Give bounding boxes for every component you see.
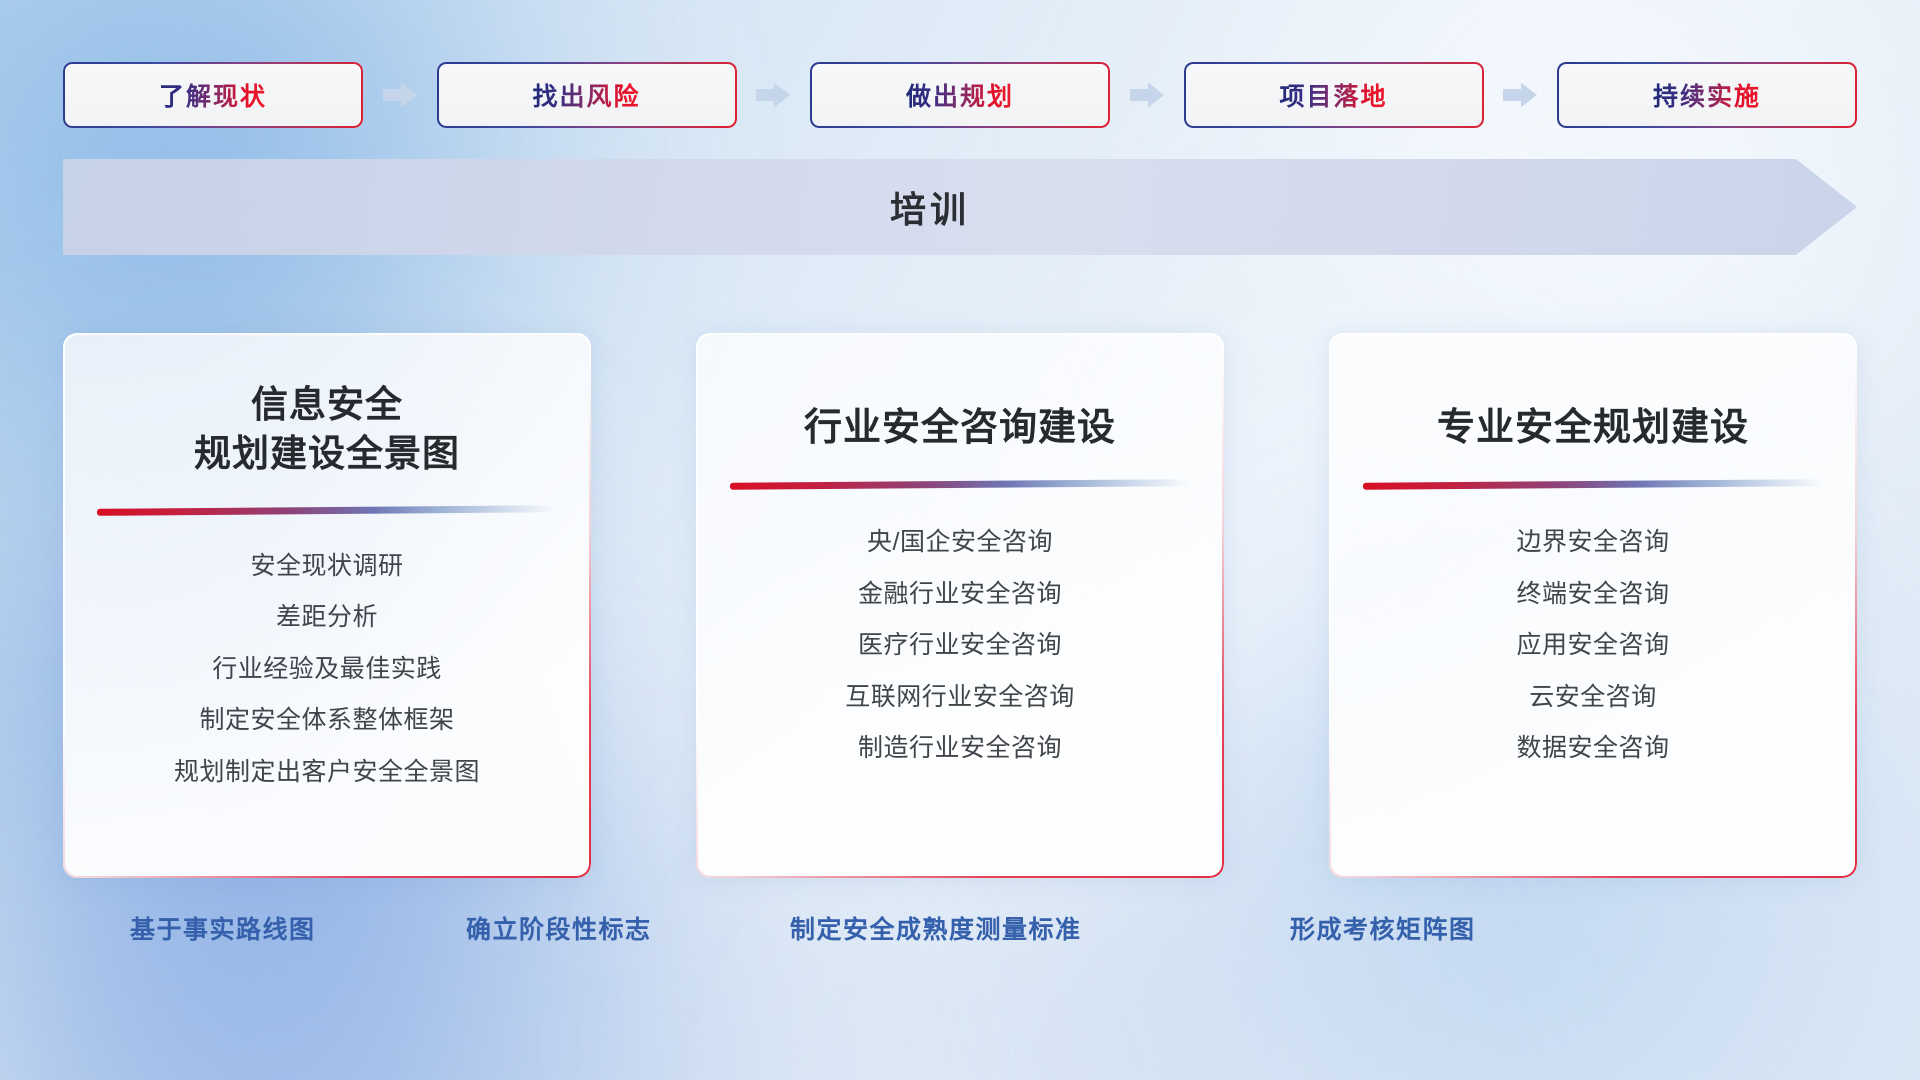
card-title-line: 行业安全咨询建设 bbox=[730, 403, 1190, 453]
card-title: 信息安全 规划建设全景图 bbox=[63, 333, 591, 479]
caption-roadmap: 基于事实路线图 bbox=[130, 910, 316, 946]
caption-matrix: 形成考核矩阵图 bbox=[1290, 910, 1476, 946]
step-box-5[interactable]: 持续实施 bbox=[1557, 62, 1857, 128]
step-box-2[interactable]: 找出风险 bbox=[437, 62, 737, 128]
list-item: 差距分析 bbox=[276, 599, 378, 637]
step-label: 持续实施 bbox=[1653, 77, 1761, 113]
arrow-right-block-icon bbox=[383, 81, 417, 109]
card-information-security-panorama[interactable]: 信息安全 规划建设全景图 安全现状调研 差距分析 行业经验及最佳实践 制定安全体… bbox=[63, 333, 591, 878]
cards-row: 信息安全 规划建设全景图 安全现状调研 差距分析 行业经验及最佳实践 制定安全体… bbox=[63, 333, 1857, 878]
caption-maturity: 制定安全成熟度测量标准 bbox=[790, 910, 1082, 946]
card-title-line: 规划建设全景图 bbox=[97, 430, 557, 479]
step-label: 了解现状 bbox=[159, 77, 267, 113]
list-item: 安全现状调研 bbox=[250, 548, 403, 586]
bottom-captions: 基于事实路线图 确立阶段性标志 制定安全成熟度测量标准 形成考核矩阵图 bbox=[0, 910, 1920, 960]
list-item: 制定安全体系整体框架 bbox=[199, 702, 454, 740]
card-title-line: 信息安全 bbox=[97, 381, 557, 430]
step-box-4[interactable]: 项目落地 bbox=[1184, 62, 1484, 128]
card-professional-security-planning[interactable]: 专业安全规划建设 边界安全咨询 终端安全咨询 应用安全咨询 云安全咨询 数据安全… bbox=[1329, 333, 1857, 878]
card-item-list: 央/国企安全咨询 金融行业安全咨询 医疗行业安全咨询 互联网行业安全咨询 制造行… bbox=[696, 524, 1224, 768]
card-title: 专业安全规划建设 bbox=[1329, 333, 1857, 453]
card-title: 行业安全咨询建设 bbox=[696, 333, 1224, 453]
list-item: 边界安全咨询 bbox=[1516, 524, 1669, 562]
list-item: 制造行业安全咨询 bbox=[858, 730, 1062, 768]
card-title-line: 专业安全规划建设 bbox=[1363, 403, 1823, 453]
process-steps: 了解现状 找出风险 做出规划 项目落地 持续实施 bbox=[63, 62, 1857, 128]
arrow-right-block-icon bbox=[1503, 81, 1537, 109]
card-divider bbox=[1363, 479, 1823, 490]
list-item: 央/国企安全咨询 bbox=[867, 524, 1053, 562]
card-item-list: 安全现状调研 差距分析 行业经验及最佳实践 制定安全体系整体框架 规划制定出客户… bbox=[63, 548, 591, 792]
caption-milestone: 确立阶段性标志 bbox=[466, 910, 652, 946]
list-item: 云安全咨询 bbox=[1529, 679, 1657, 717]
card-divider bbox=[730, 479, 1190, 490]
list-item: 数据安全咨询 bbox=[1516, 730, 1669, 768]
banner-title: 培训 bbox=[63, 159, 1857, 255]
step-label: 找出风险 bbox=[532, 77, 640, 113]
arrow-right-block-icon bbox=[1130, 81, 1164, 109]
step-box-1[interactable]: 了解现状 bbox=[63, 62, 363, 128]
training-banner: 培训 bbox=[63, 159, 1857, 255]
step-label: 项目落地 bbox=[1279, 77, 1387, 113]
list-item: 终端安全咨询 bbox=[1516, 576, 1669, 614]
arrow-right-block-icon bbox=[756, 81, 790, 109]
step-label: 做出规划 bbox=[906, 77, 1014, 113]
card-industry-security-consulting[interactable]: 行业安全咨询建设 央/国企安全咨询 金融行业安全咨询 医疗行业安全咨询 互联网行… bbox=[696, 333, 1224, 878]
list-item: 应用安全咨询 bbox=[1516, 627, 1669, 665]
list-item: 互联网行业安全咨询 bbox=[845, 679, 1075, 717]
list-item: 规划制定出客户安全全景图 bbox=[174, 754, 480, 792]
card-item-list: 边界安全咨询 终端安全咨询 应用安全咨询 云安全咨询 数据安全咨询 bbox=[1329, 524, 1857, 768]
card-divider bbox=[97, 505, 557, 516]
list-item: 金融行业安全咨询 bbox=[858, 576, 1062, 614]
list-item: 行业经验及最佳实践 bbox=[212, 651, 442, 689]
step-box-3[interactable]: 做出规划 bbox=[810, 62, 1110, 128]
list-item: 医疗行业安全咨询 bbox=[858, 627, 1062, 665]
